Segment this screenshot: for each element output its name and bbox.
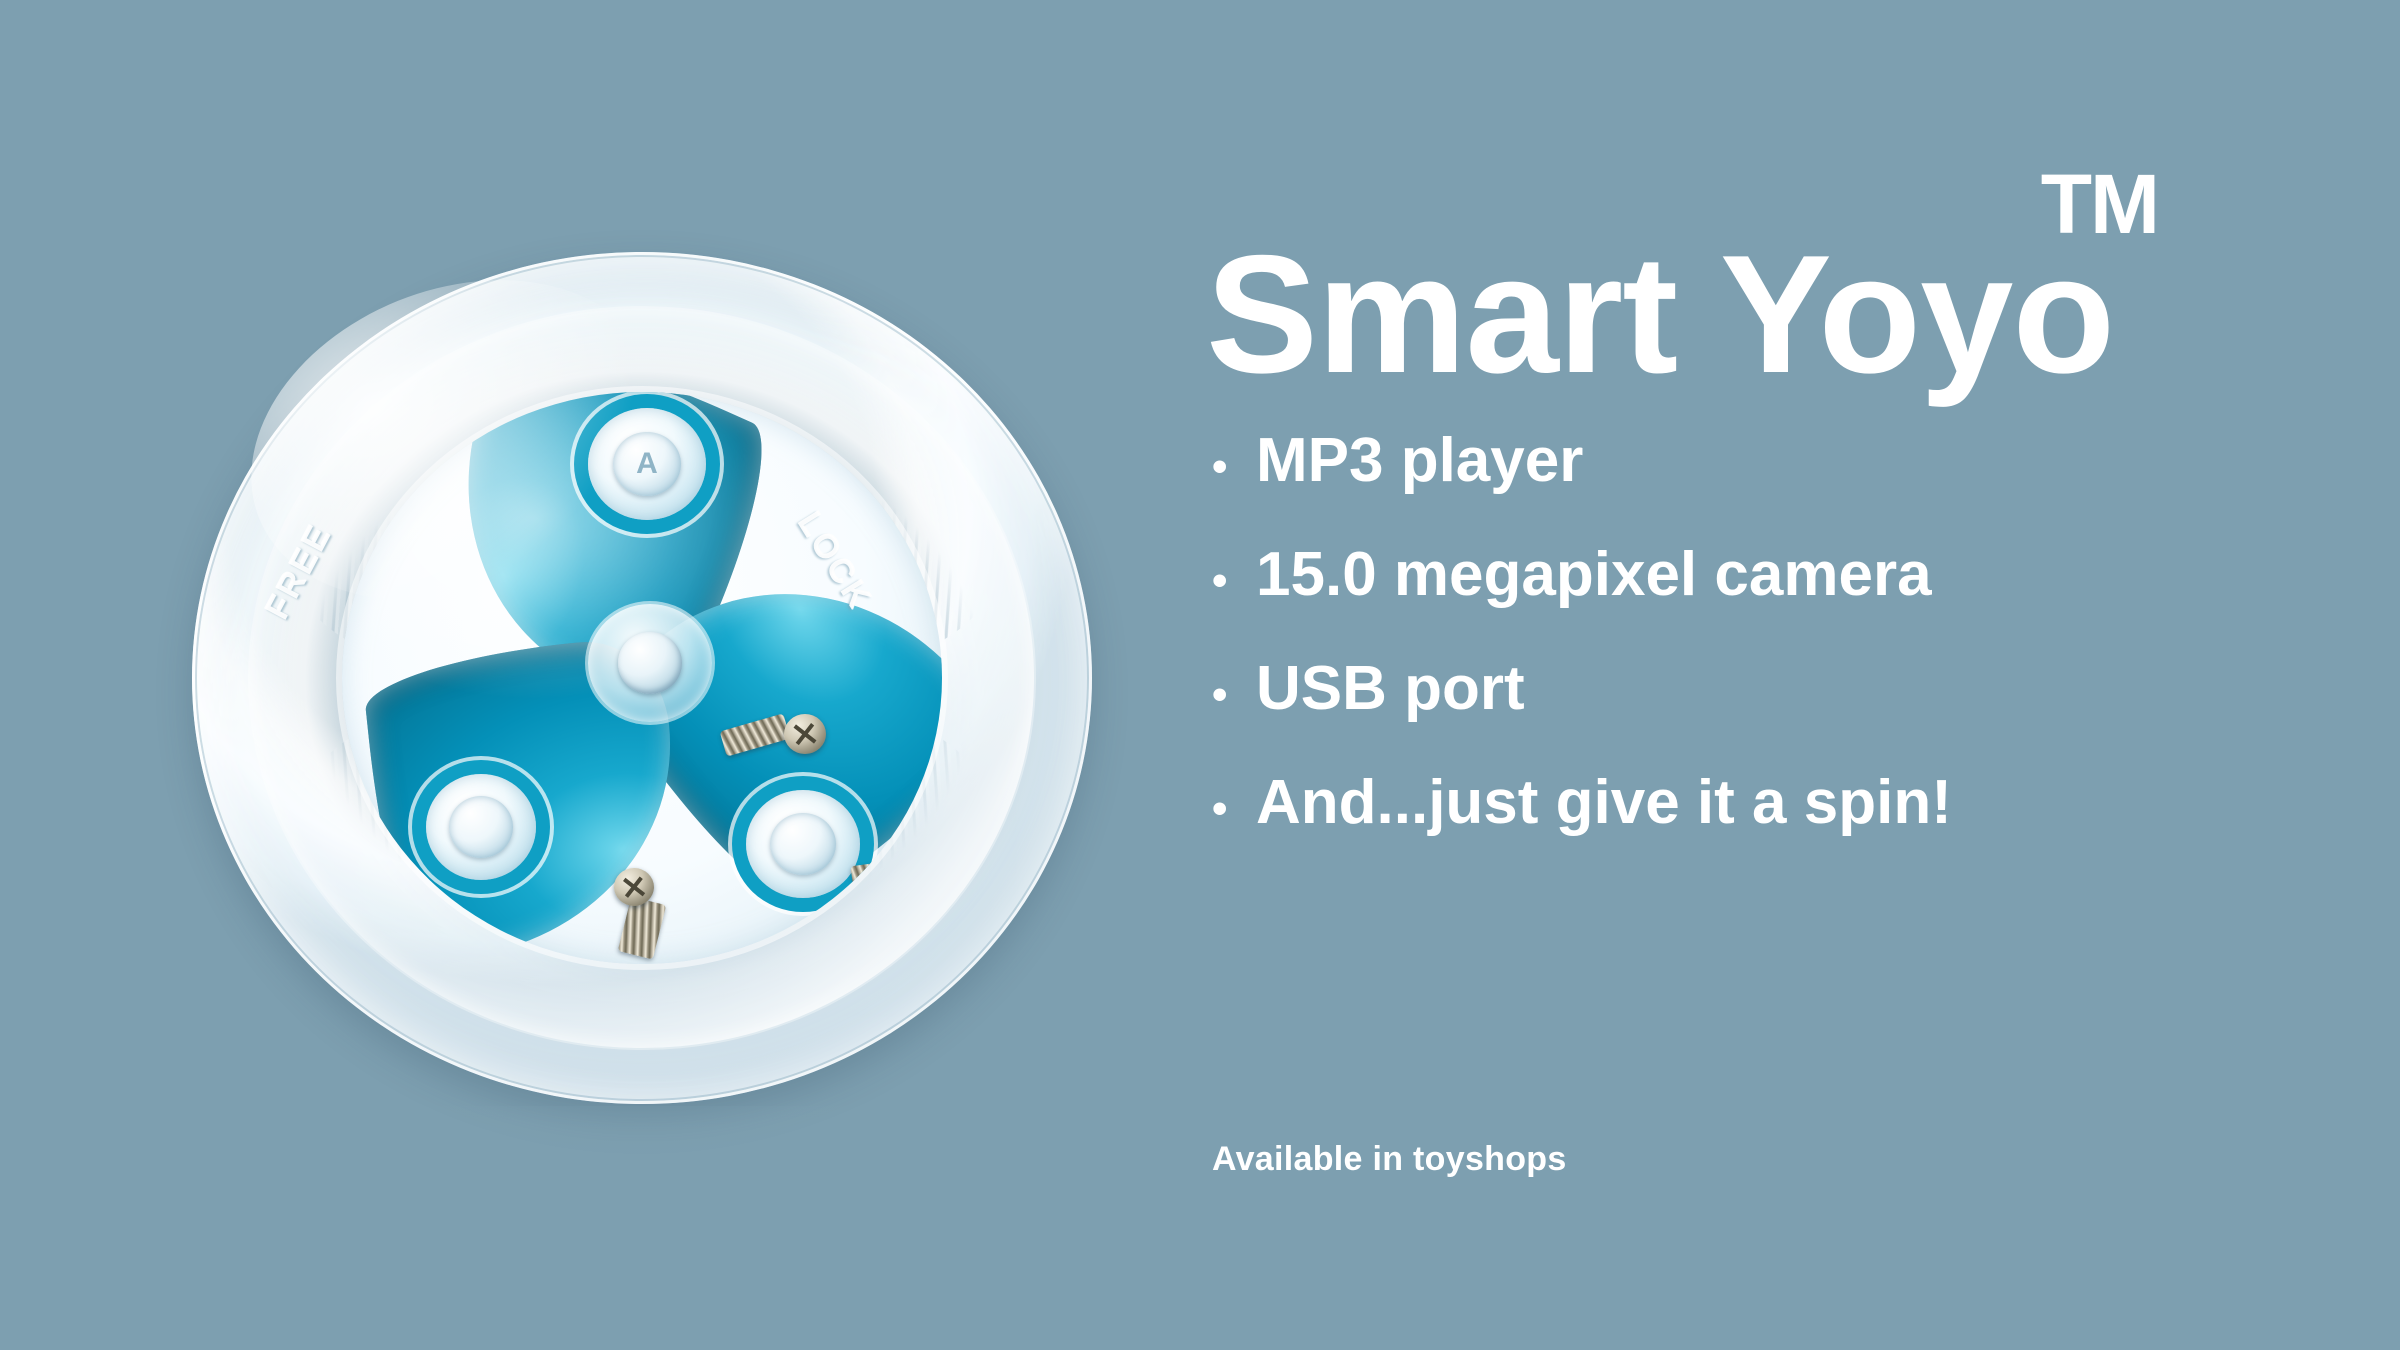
screw-head-1 bbox=[784, 714, 826, 754]
bullet-icon: • bbox=[1212, 673, 1256, 717]
page-title: Smart Yoyo bbox=[1206, 230, 2114, 398]
list-item: • USB port bbox=[1212, 658, 1952, 720]
bullet-icon: • bbox=[1212, 787, 1256, 831]
feature-list: • MP3 player • 15.0 megapixel camera • U… bbox=[1212, 430, 1952, 886]
screw-head-3 bbox=[842, 908, 886, 950]
yoyo-hub-a-label: A bbox=[613, 432, 681, 497]
product-image-smart-yoyo: A FREE LOCK bbox=[192, 252, 1092, 1104]
availability-note: Available in toyshops bbox=[1212, 1140, 1567, 1179]
yoyo-center-axle bbox=[588, 604, 712, 722]
screw-head-2 bbox=[614, 868, 654, 906]
yoyo-axle-nut bbox=[618, 632, 682, 693]
yoyo-hub-bottom-left-cap bbox=[449, 796, 513, 857]
bullet-icon: • bbox=[1212, 445, 1256, 489]
feature-text: MP3 player bbox=[1256, 430, 1583, 492]
list-item: • 15.0 megapixel camera bbox=[1212, 544, 1952, 606]
yoyo-hub-bottom-left bbox=[426, 774, 536, 880]
yoyo-hub-bottom-right bbox=[746, 790, 860, 898]
reflection-fade-overlay bbox=[192, 1106, 1092, 1350]
feature-text: And...just give it a spin! bbox=[1256, 772, 1952, 834]
list-item: • And...just give it a spin! bbox=[1212, 772, 1952, 834]
list-item: • MP3 player bbox=[1212, 430, 1952, 492]
product-image-reflection bbox=[192, 1106, 1092, 1350]
advertisement-slide: A FREE LOCK bbox=[0, 0, 2400, 1350]
bullet-icon: • bbox=[1212, 559, 1256, 603]
yoyo-hub-bottom-right-cap bbox=[770, 813, 836, 876]
yoyo-body: A FREE LOCK bbox=[192, 252, 1092, 1104]
screw-shaft-2 bbox=[618, 896, 666, 959]
yoyo-swirl-plate: A bbox=[342, 392, 942, 964]
feature-text: 15.0 megapixel camera bbox=[1256, 544, 1932, 606]
yoyo-hub-a: A bbox=[588, 408, 706, 520]
feature-text: USB port bbox=[1256, 658, 1525, 720]
marketing-copy: TM Smart Yoyo • MP3 player • 15.0 megapi… bbox=[1200, 120, 2320, 420]
title-block: TM Smart Yoyo bbox=[1200, 120, 2320, 420]
